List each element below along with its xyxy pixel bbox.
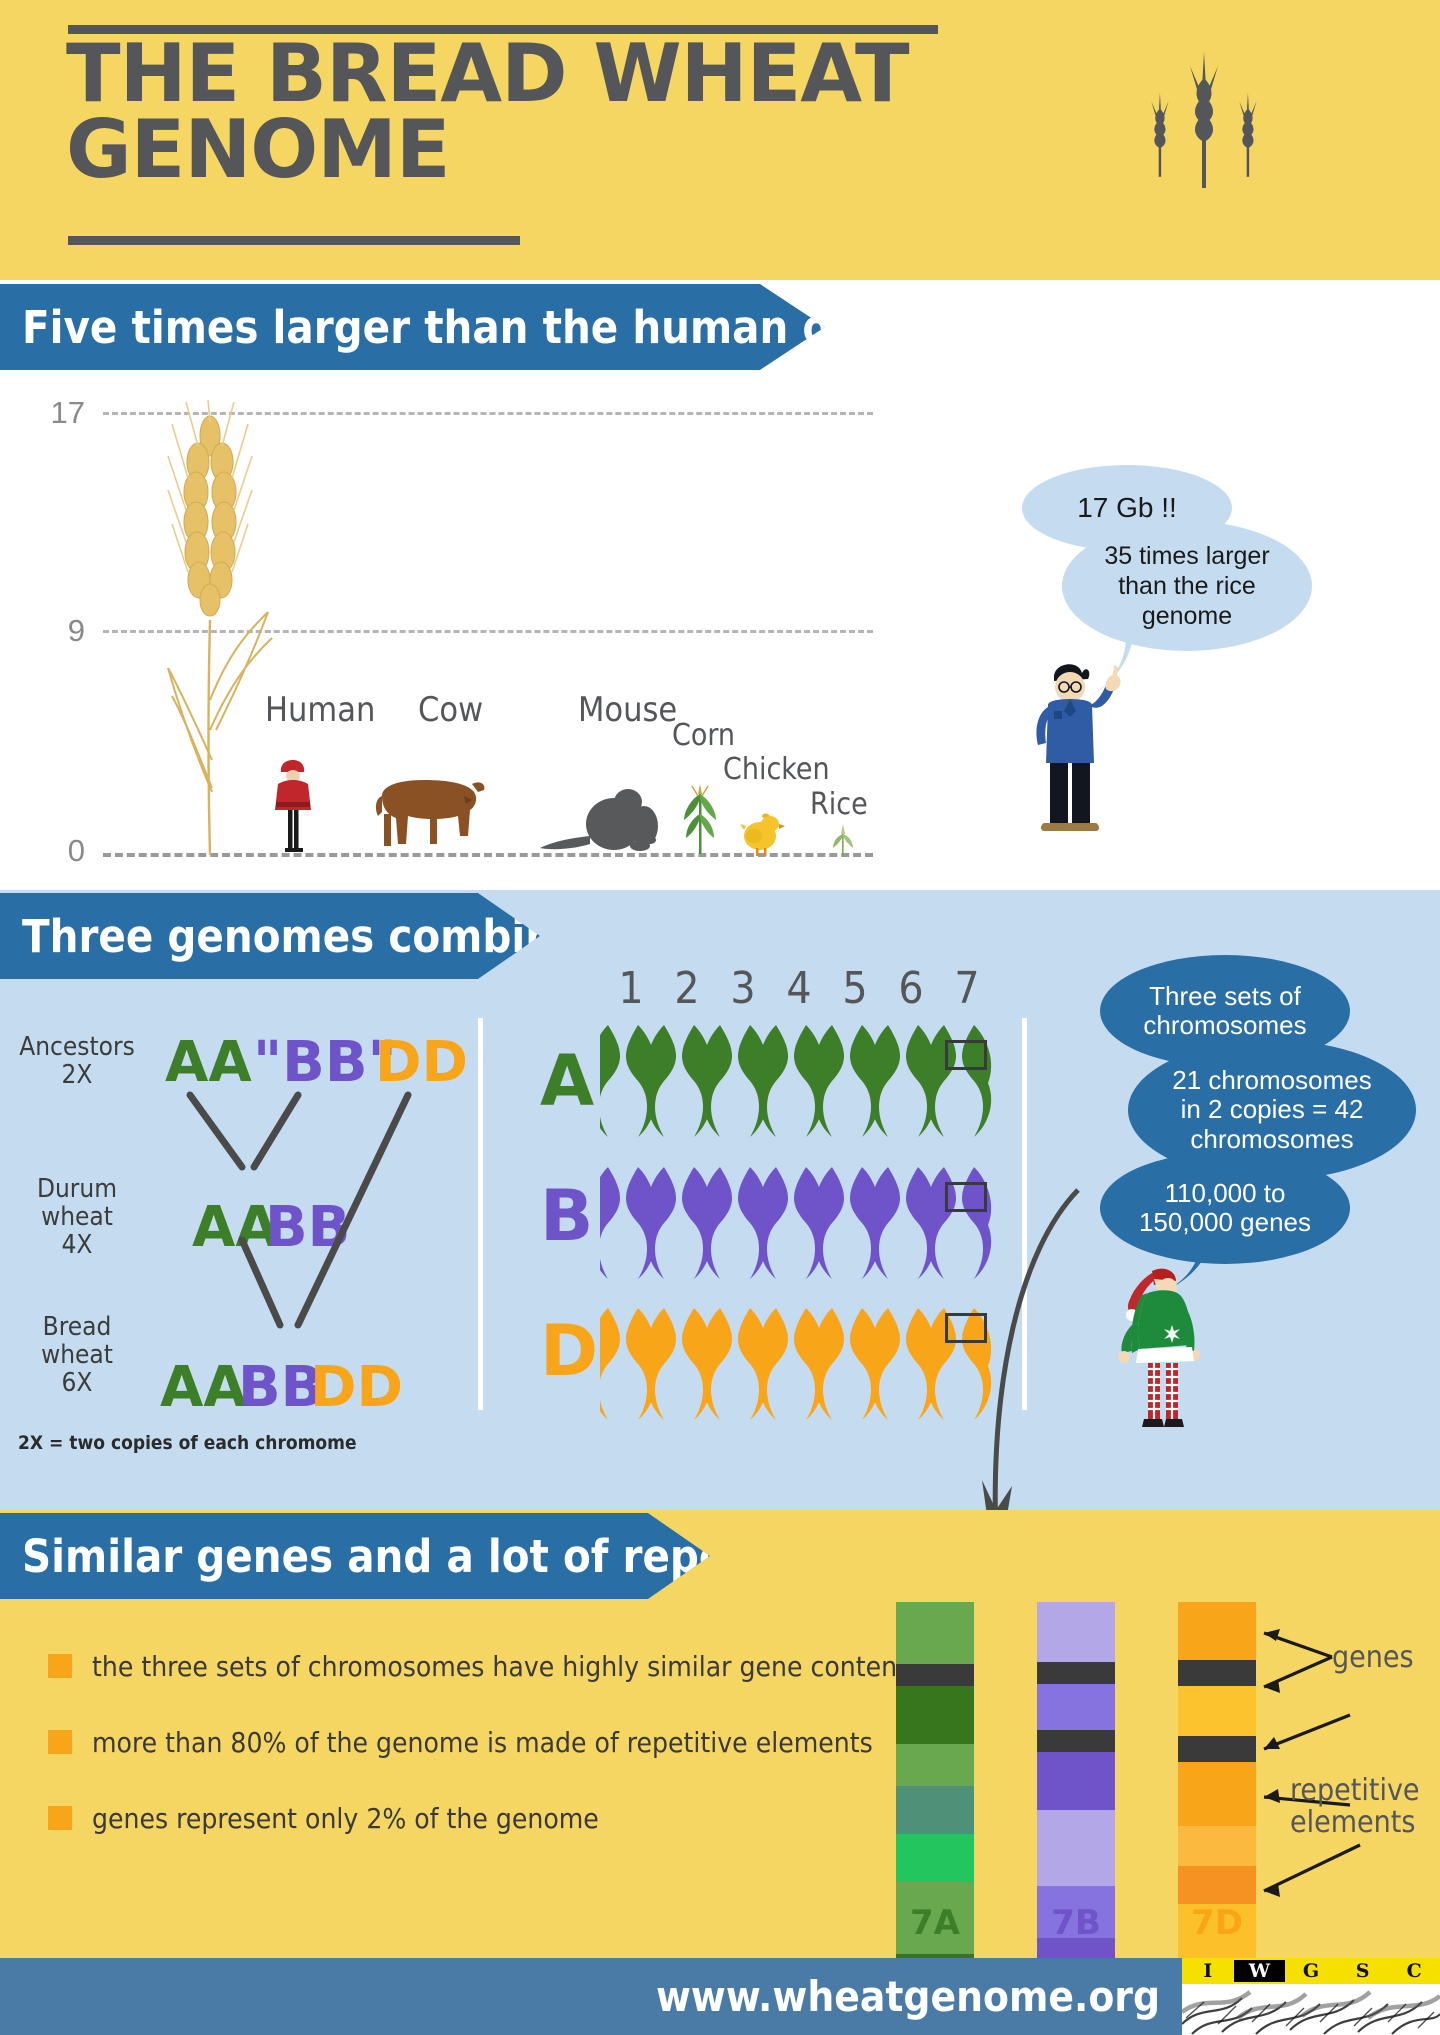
corn-plant-icon (678, 780, 722, 861)
highlight-box-7A (945, 1040, 987, 1070)
elf-woman-icon (1118, 1265, 1208, 1435)
logo-letter-i: I (1182, 1960, 1234, 1982)
wheat-stalks-icon (1120, 30, 1300, 215)
bullet-text-2: more than 80% of the genome is made of r… (92, 1726, 873, 1759)
pedigree-label-durum-l1: Durum (12, 1175, 142, 1203)
speech-bubble-rice-line1: 35 times larger (1104, 541, 1269, 571)
chromosome-number-5: 5 (831, 963, 879, 1014)
chromosome-number-3: 3 (719, 963, 767, 1014)
bubble-three-sets-l1: Three sets of (1149, 982, 1301, 1011)
human-figure-icon (270, 758, 316, 859)
chicken-figure-icon (740, 810, 788, 863)
pedigree-connectors (150, 1085, 480, 1375)
section3-banner: Similar genes and a lot of repetitions (0, 1513, 710, 1599)
organism-label-corn: Corn (672, 718, 735, 753)
chromosome-label-7D: 7D (1178, 1903, 1256, 1943)
bullet-marker-1 (48, 1654, 72, 1678)
bubble-42-l2: in 2 copies = 42 (1181, 1095, 1364, 1124)
chromosome-number-4: 4 (775, 963, 823, 1014)
page-title-line1: THE BREAD WHEAT (66, 36, 966, 112)
page-title-line2: GENOME (66, 112, 966, 188)
logo-letter-g: G (1285, 1960, 1337, 1982)
axis-tick-9: 9 (25, 613, 85, 649)
pedigree-label-ancestors: Ancestors 2X (12, 1033, 142, 1089)
pedigree-label-ancestors-l1: Ancestors (12, 1033, 142, 1061)
annotation-genes-label: genes (1332, 1642, 1414, 1674)
pedigree-label-durum-l3: 4X (12, 1231, 142, 1259)
chromosome-number-7: 7 (943, 963, 991, 1014)
iwgsc-logo-letters: I W G S C (1182, 1958, 1440, 1984)
logo-wheat-photo (1182, 1984, 1440, 2035)
genome-set-letter-B: B (540, 1175, 593, 1257)
genome-set-letter-D: D (540, 1310, 598, 1392)
pedigree-label-bread-l1: Bread (12, 1313, 142, 1341)
page-title: THE BREAD WHEAT GENOME (66, 36, 966, 188)
organism-label-cow: Cow (418, 690, 483, 730)
pedigree-label-bread-l3: 6X (12, 1369, 142, 1397)
infographic-page: THE BREAD WHEAT GENOME (0, 0, 1440, 2035)
annotation-repetitive-l1: repetitive (1290, 1775, 1420, 1807)
section2-banner: Three genomes combined (0, 893, 540, 979)
pedigree-label-durum: Durum wheat 4X (12, 1175, 142, 1259)
chromosome-row-B (600, 1167, 1000, 1287)
chromosome-label-7A: 7A (896, 1903, 974, 1943)
section1-banner: Five times larger than the human genome (0, 284, 825, 370)
bubble-42-l3: chromosomes (1190, 1125, 1353, 1154)
logo-letter-s: S (1337, 1960, 1389, 1982)
mouse-figure-icon (540, 780, 670, 861)
axis-tick-17: 17 (25, 395, 85, 431)
logo-letter-w: W (1234, 1960, 1286, 1982)
pedigree-label-bread: Bread wheat 6X (12, 1313, 142, 1397)
rice-plant-icon (828, 822, 858, 861)
chromosome-row-D (600, 1308, 1000, 1428)
organism-label-mouse: Mouse (578, 690, 677, 730)
organism-label-human: Human (265, 690, 375, 730)
pedigree-label-bread-l2: wheat (12, 1341, 142, 1369)
man-pointing-icon (1030, 655, 1130, 840)
iwgsc-logo: I W G S C (1182, 1958, 1440, 2035)
speech-bubble-rice-line2: than the rice (1118, 571, 1256, 601)
annotation-repetitive-l2: elements (1290, 1807, 1420, 1839)
chromosome-row-A (600, 1025, 1000, 1145)
pedigree-footnote: 2X = two copies of each chromome (18, 1432, 357, 1454)
chromosome-number-6: 6 (887, 963, 935, 1014)
logo-letter-c: C (1388, 1960, 1440, 1982)
bubble-three-sets-l2: chromosomes (1143, 1011, 1306, 1040)
bubble-42-l1: 21 chromosomes (1172, 1066, 1371, 1095)
bubble-genes-l2: 150,000 genes (1139, 1208, 1311, 1237)
pedigree-label-durum-l2: wheat (12, 1203, 142, 1231)
bullet-text-3: genes represent only 2% of the genome (92, 1802, 599, 1835)
axis-tick-0: 0 (25, 833, 85, 869)
cow-figure-icon (368, 766, 488, 859)
speech-bubble-rice-line3: genome (1142, 601, 1232, 631)
header-banner: THE BREAD WHEAT GENOME (0, 0, 1440, 280)
footer-website-url[interactable]: www.wheatgenome.org (0, 1972, 1160, 2021)
bullet-text-1: the three sets of chromosomes have highl… (92, 1650, 920, 1683)
genome-set-letter-A: A (540, 1040, 594, 1122)
vertical-divider-left (478, 1018, 483, 1410)
bubble-genes-l1: 110,000 to (1165, 1179, 1286, 1208)
annotation-repetitive-label: repetitive elements (1290, 1775, 1420, 1838)
chromosome-label-7B: 7B (1037, 1903, 1115, 1943)
organism-label-rice: Rice (810, 787, 868, 822)
header-rule-bottom (68, 236, 520, 245)
organism-label-chicken: Chicken (723, 752, 830, 787)
chromosome-number-1: 1 (607, 963, 655, 1014)
bullet-marker-2 (48, 1730, 72, 1754)
bullet-marker-3 (48, 1806, 72, 1830)
chromosome-number-2: 2 (663, 963, 711, 1014)
speech-bubble-17gb-text: 17 Gb !! (1077, 492, 1177, 524)
pedigree-label-ancestors-l2: 2X (12, 1061, 142, 1089)
